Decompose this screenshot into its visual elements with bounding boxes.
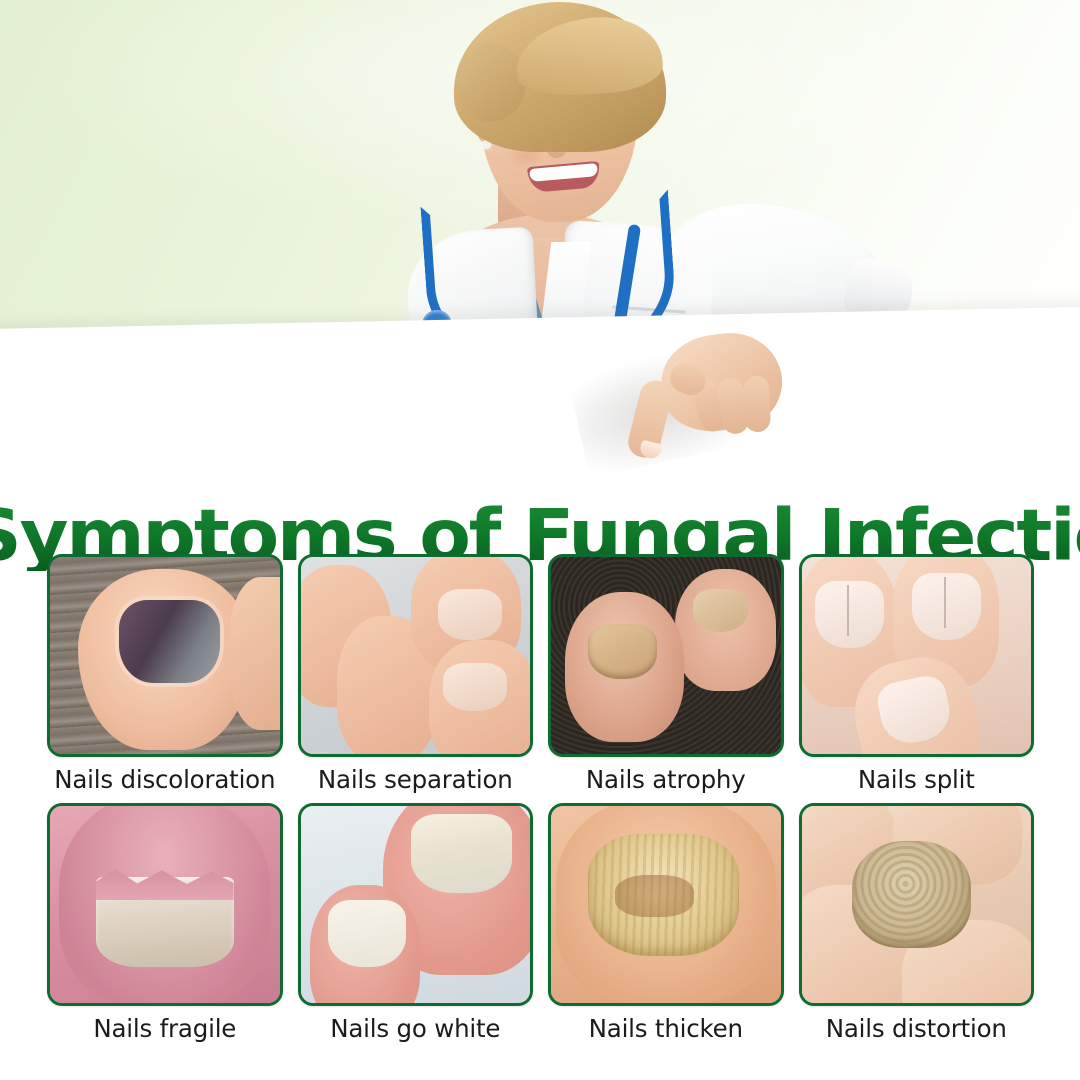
symptoms-grid: Nails discoloration Nails separation Nai…	[50, 554, 1031, 1043]
toenail-separation-photo	[301, 557, 531, 754]
doctor-teeth	[529, 163, 598, 182]
symptom-caption: Nails split	[858, 767, 975, 794]
fingernail-split-photo	[802, 557, 1032, 754]
toenail-white-photo	[301, 806, 531, 1003]
symptom-image-frame	[548, 554, 784, 757]
symptom-image-frame	[298, 554, 534, 757]
symptom-card-nails-thicken[interactable]: Nails thicken	[551, 803, 781, 1043]
symptom-image-frame	[298, 803, 534, 1006]
fingernail-distortion-photo	[802, 806, 1032, 1003]
toenail-fragile-photo	[50, 806, 280, 1003]
symptom-card-nails-fragile[interactable]: Nails fragile	[50, 803, 280, 1043]
symptom-caption: Nails atrophy	[586, 767, 746, 794]
symptom-card-nails-discoloration[interactable]: Nails discoloration	[50, 554, 280, 794]
symptom-card-nails-split[interactable]: Nails split	[802, 554, 1032, 794]
symptom-image-frame	[47, 803, 283, 1006]
symptom-caption: Nails thicken	[589, 1016, 743, 1043]
pointing-hand-icon	[600, 330, 800, 480]
doctor-hair-bun	[456, 44, 526, 122]
fungal-infection-symptoms-poster: Symptoms of Fungal Infection Nails disco…	[0, 0, 1080, 1080]
symptom-card-nails-go-white[interactable]: Nails go white	[301, 803, 531, 1043]
symptom-image-frame	[799, 803, 1035, 1006]
symptom-image-frame	[548, 803, 784, 1006]
toenail-thicken-photo	[551, 806, 781, 1003]
toenail-discoloration-photo	[50, 557, 280, 754]
doctor-figure	[330, 0, 800, 362]
hand-finger-3	[743, 376, 771, 433]
symptom-caption: Nails distortion	[826, 1016, 1007, 1043]
symptom-image-frame	[47, 554, 283, 757]
symptom-caption: Nails go white	[330, 1016, 500, 1043]
symptom-caption: Nails discoloration	[54, 767, 275, 794]
symptom-caption: Nails fragile	[93, 1016, 236, 1043]
toenail-atrophy-photo	[551, 557, 781, 754]
symptom-card-nails-atrophy[interactable]: Nails atrophy	[551, 554, 781, 794]
symptom-card-nails-separation[interactable]: Nails separation	[301, 554, 531, 794]
symptom-card-nails-distortion[interactable]: Nails distortion	[802, 803, 1032, 1043]
symptom-image-frame	[799, 554, 1035, 757]
symptom-caption: Nails separation	[318, 767, 513, 794]
